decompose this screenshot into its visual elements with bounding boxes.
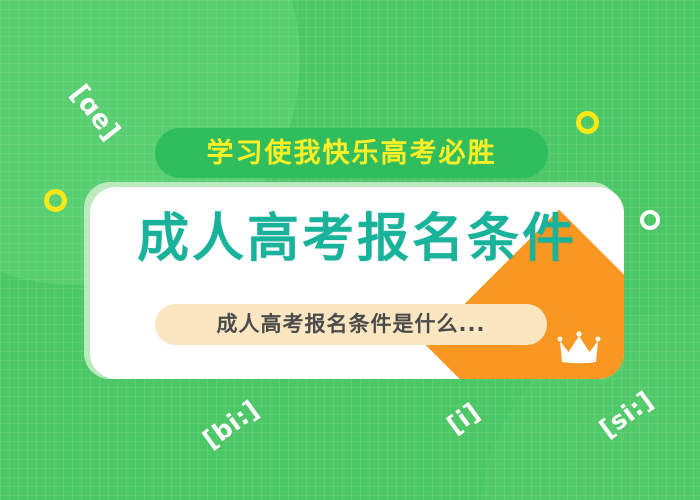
decor-phonetic-2: [bi:] [197, 395, 264, 455]
main-card: 成人高考报名条件 成人高考报名条件是什么... [90, 187, 624, 379]
decor-ring-yellow-top [576, 111, 599, 134]
slogan-banner-text: 学习使我快乐高考必胜 [207, 140, 497, 167]
subtitle-pill: 成人高考报名条件是什么... [155, 304, 547, 345]
crown-icon [556, 331, 602, 365]
subtitle-text: 成人高考报名条件是什么... [217, 314, 486, 335]
page-title: 成人高考报名条件 [90, 213, 624, 265]
poster-canvas: [ɑe] [bi:] [i] [si:] 学习使我快乐高考必胜 成人高考报名条件… [0, 0, 700, 500]
decor-phonetic-3: [i] [442, 397, 486, 440]
decor-ring-white-right [640, 210, 660, 230]
slogan-banner: 学习使我快乐高考必胜 [155, 128, 548, 178]
decor-ring-yellow-left [44, 189, 67, 212]
